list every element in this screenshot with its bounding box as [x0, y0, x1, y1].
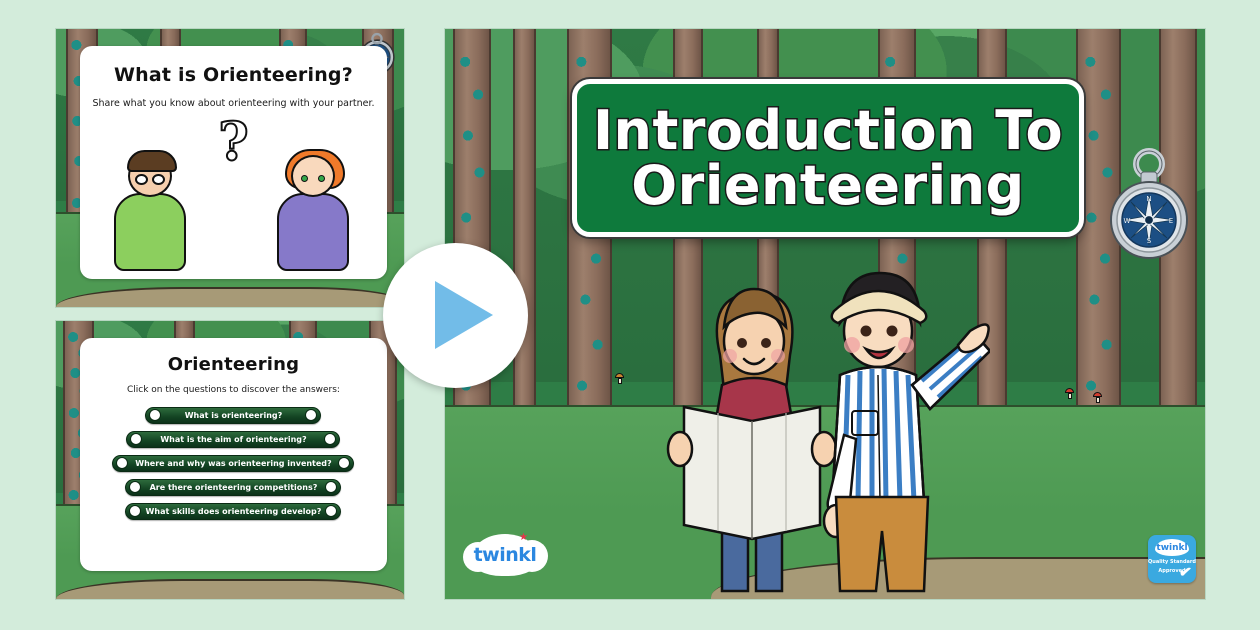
dirt-path [56, 287, 404, 307]
eye [301, 175, 308, 182]
title-line-2: Orienteering [631, 158, 1024, 213]
screenshot-stage: What is Orienteering? Share what you kno… [0, 0, 1260, 630]
slide-thumbnail-what-is-orienteering[interactable]: What is Orienteering? Share what you kno… [55, 28, 405, 308]
children-illustration [660, 235, 990, 595]
title-banner: Introduction To Orienteering [572, 79, 1084, 237]
glasses-left-lens [135, 174, 148, 185]
badge-wordmark: twinkl [1156, 543, 1187, 553]
child-left-head [128, 155, 172, 197]
question-button-1[interactable]: What is orienteering? [145, 407, 321, 424]
mushroom-icon [1065, 388, 1074, 399]
question-button-4[interactable]: Are there orienteering competitions? [125, 479, 341, 496]
question-button-5[interactable]: What skills does orienteering develop? [125, 503, 341, 520]
glasses-right-lens [152, 174, 165, 185]
twinkl-wordmark: twinkl [474, 544, 537, 566]
child-right-hair [285, 149, 345, 189]
child-right-body [277, 193, 349, 271]
illustration-child-right [277, 155, 349, 271]
child-left-body [114, 193, 186, 271]
slide-2-subtitle: Click on the questions to discover the a… [92, 385, 374, 395]
svg-text:S: S [1147, 237, 1152, 245]
svg-text:N: N [1146, 195, 1151, 203]
svg-text:E: E [1169, 217, 1173, 225]
play-button[interactable] [383, 243, 528, 388]
badge-cloud-icon: twinkl [1155, 539, 1189, 556]
main-preview-panel[interactable]: Introduction To Orienteering N S E W [444, 28, 1206, 600]
compass-icon: N S E W [1101, 144, 1197, 262]
title-line-1: Introduction To [593, 103, 1063, 158]
twinkl-logo: twinkl ★ [471, 534, 539, 576]
slide-1-subtitle: Share what you know about orienteering w… [92, 98, 374, 109]
slide-1-card: What is Orienteering? Share what you kno… [80, 46, 386, 280]
twinkl-star-icon: ★ [519, 532, 528, 543]
question-mark-icon: ? [218, 117, 248, 169]
slide-thumbnail-orienteering-questions[interactable]: Orienteering Click on the questions to d… [55, 320, 405, 600]
child-with-map [668, 289, 836, 591]
question-button-2[interactable]: What is the aim of orienteering? [126, 431, 340, 448]
question-button-3[interactable]: Where and why was orienteering invented? [112, 455, 354, 472]
slide-1-illustration: ? [92, 121, 374, 271]
mushroom-icon [1093, 392, 1102, 403]
eye [318, 175, 325, 182]
play-triangle-icon [435, 281, 493, 349]
child-right-head [291, 155, 335, 197]
mushroom-icon [615, 373, 624, 384]
dirt-path [56, 579, 404, 599]
svg-text:W: W [1124, 217, 1131, 225]
child-left-hair [127, 150, 177, 172]
slide-1-title: What is Orienteering? [92, 64, 374, 86]
slide-2-title: Orienteering [92, 354, 374, 375]
twinkl-quality-standard-badge: twinkl Quality Standard Approved ✔ [1148, 535, 1196, 583]
slide-2-card: Orienteering Click on the questions to d… [80, 338, 386, 572]
check-icon: ✔ [1178, 562, 1193, 582]
illustration-child-left [114, 155, 186, 271]
child-pointing [824, 273, 990, 591]
question-button-list: What is orienteering? What is the aim of… [92, 407, 374, 520]
